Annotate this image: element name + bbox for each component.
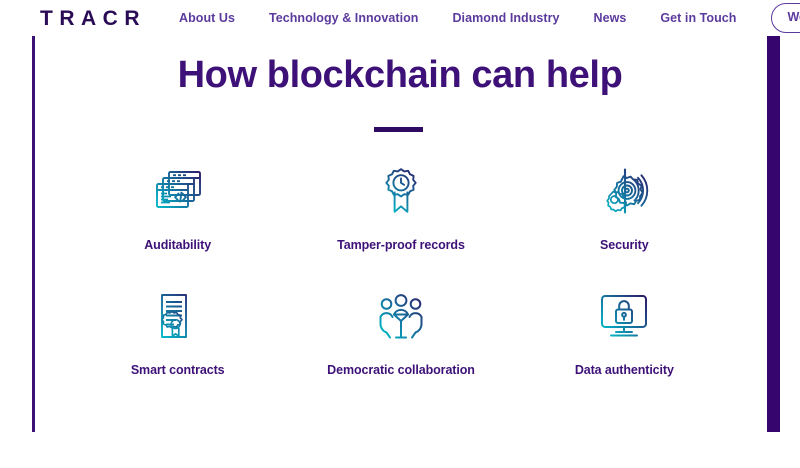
nav-diamond-industry[interactable]: Diamond Industry <box>435 12 576 25</box>
monitor-padlock-icon <box>594 288 654 344</box>
feature-item-security[interactable]: Security <box>513 163 736 288</box>
feature-label-democratic-collaboration: Democratic collaboration <box>327 363 475 378</box>
main-navigation: About Us Technology & Innovation Diamond… <box>179 3 800 33</box>
gear-medal-ribbon-icon <box>371 163 431 219</box>
nav-news[interactable]: News <box>577 12 644 25</box>
gears-fingerprint-icon <box>594 163 654 219</box>
three-people-icon <box>371 288 431 344</box>
feature-grid: Auditability <box>66 163 736 413</box>
code-windows-icon <box>148 163 208 219</box>
document-seal-gear-icon <box>148 288 208 344</box>
feature-label-security: Security <box>600 238 649 253</box>
feature-label-tamper-proof-records: Tamper-proof records <box>337 238 465 253</box>
feature-item-smart-contracts[interactable]: Smart contracts <box>66 288 289 413</box>
page-title: How blockchain can help <box>0 56 800 96</box>
how-blockchain-can-help-section: How blockchain can help <box>0 36 800 468</box>
nav-technology-innovation[interactable]: Technology & Innovation <box>252 12 436 25</box>
feature-item-tamper-proof-records[interactable]: Tamper-proof records <box>289 163 512 288</box>
feature-label-data-authenticity: Data authenticity <box>575 363 674 378</box>
feature-item-auditability[interactable]: Auditability <box>66 163 289 288</box>
we-are-hiring-button[interactable]: We are hiring! <box>771 3 800 33</box>
site-header: TRACR About Us Technology & Innovation D… <box>0 0 800 36</box>
feature-label-auditability: Auditability <box>144 238 211 253</box>
title-divider <box>374 127 423 132</box>
feature-item-data-authenticity[interactable]: Data authenticity <box>513 288 736 413</box>
nav-get-in-touch[interactable]: Get in Touch <box>643 12 753 25</box>
feature-item-democratic-collaboration[interactable]: Democratic collaboration <box>289 288 512 413</box>
feature-label-smart-contracts: Smart contracts <box>131 363 225 378</box>
nav-about-us[interactable]: About Us <box>179 12 252 25</box>
brand-logo[interactable]: TRACR <box>40 8 146 29</box>
